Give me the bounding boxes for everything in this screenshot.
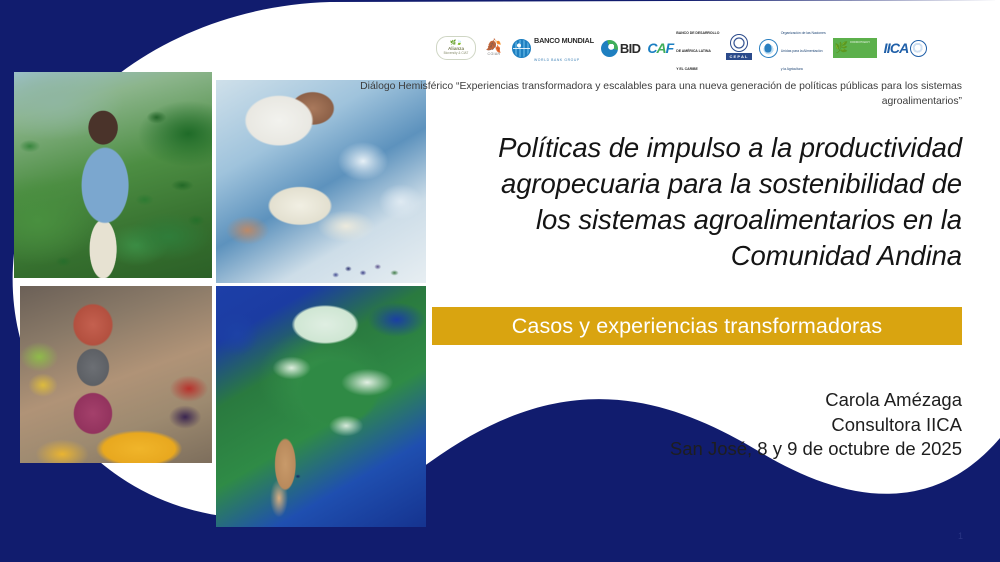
caf-mark-icon: CAF bbox=[647, 40, 673, 56]
ifpri-line1: INTERNATIONAL bbox=[850, 22, 873, 26]
alianza-bioversity-ciat-logo: 🌿🍃 Alianza Bioversity & CIAT bbox=[436, 34, 476, 62]
ifpri-logo: 🌿 INTERNATIONAL FOOD POLICY RESEARCH INS… bbox=[833, 38, 877, 58]
globe-icon bbox=[512, 39, 531, 58]
caf-logo: CAF BANCO DE DESARROLLO DE AMÉRICA LATIN… bbox=[647, 34, 719, 62]
bid-label: BID bbox=[620, 41, 641, 56]
author-place-date: San José, 8 y 9 de octubre de 2025 bbox=[560, 437, 962, 462]
photo-satellite-south-america bbox=[216, 286, 426, 527]
iica-globe-icon bbox=[910, 40, 927, 57]
banco-mundial-logo: BANCO MUNDIAL WORLD BANK GROUP bbox=[512, 34, 594, 62]
bid-mark-icon bbox=[601, 40, 618, 57]
banco-mundial-label: BANCO MUNDIAL bbox=[534, 36, 594, 45]
bid-logo: BID bbox=[601, 34, 641, 62]
cepal-label: CEPAL bbox=[726, 53, 751, 60]
event-subtitle: Diálogo Hemisférico “Experiencias transf… bbox=[352, 79, 962, 109]
author-role: Consultora IICA bbox=[560, 413, 962, 438]
ifpri-leaf-icon: 🌿 bbox=[835, 43, 849, 54]
photo-collage bbox=[14, 72, 426, 527]
ifpri-line2: FOOD POLICY bbox=[850, 40, 870, 44]
page-title: Políticas de impulso a la productividad … bbox=[462, 130, 962, 274]
banco-mundial-sublabel: WORLD BANK GROUP bbox=[534, 58, 580, 62]
photo-farmer-mobile-phone-coffee-field bbox=[14, 72, 212, 278]
section-banner-label: Casos y experiencias transformadoras bbox=[512, 314, 882, 339]
section-banner: Casos y experiencias transformadoras bbox=[432, 307, 962, 345]
fao-line3: y la Agricultura bbox=[781, 67, 803, 71]
title-slide: 🌿🍃 Alianza Bioversity & CIAT 🍂 CGIAR BAN… bbox=[0, 0, 1000, 562]
partner-logo-strip: 🌿🍃 Alianza Bioversity & CIAT 🍂 CGIAR BAN… bbox=[436, 33, 964, 63]
united-nations-emblem-icon bbox=[730, 34, 748, 52]
alianza-logo-line2: Bioversity & CIAT bbox=[444, 51, 469, 55]
page-number: 1 bbox=[958, 531, 963, 541]
fao-line1: Organización de las Naciones bbox=[781, 31, 826, 35]
caf-line1: BANCO DE DESARROLLO bbox=[676, 31, 719, 35]
author-block: Carola Amézaga Consultora IICA San José,… bbox=[560, 388, 962, 462]
fao-logo: Organización de las Naciones Unidas para… bbox=[759, 34, 826, 62]
cgiar-logo: 🍂 CGIAR bbox=[483, 34, 505, 62]
caf-line2: DE AMÉRICA LATINA bbox=[676, 49, 711, 53]
fao-wheat-globe-icon bbox=[759, 39, 778, 58]
ifpri-line3: RESEARCH bbox=[850, 58, 866, 62]
cgiar-logo-label: CGIAR bbox=[488, 52, 501, 56]
iica-label: IICA bbox=[884, 40, 909, 56]
cepal-logo: CEPAL bbox=[726, 34, 751, 62]
fao-line2: Unidas para la Alimentación bbox=[781, 49, 823, 53]
photo-lab-technician-plant-samples bbox=[216, 80, 426, 283]
author-name: Carola Amézaga bbox=[560, 388, 962, 413]
iica-logo: IICA bbox=[884, 34, 928, 62]
caf-line3: Y EL CARIBE bbox=[676, 67, 698, 71]
photo-market-vendor-fruit-stall bbox=[20, 286, 212, 463]
cgiar-leaf-icon: 🍂 bbox=[486, 40, 502, 52]
